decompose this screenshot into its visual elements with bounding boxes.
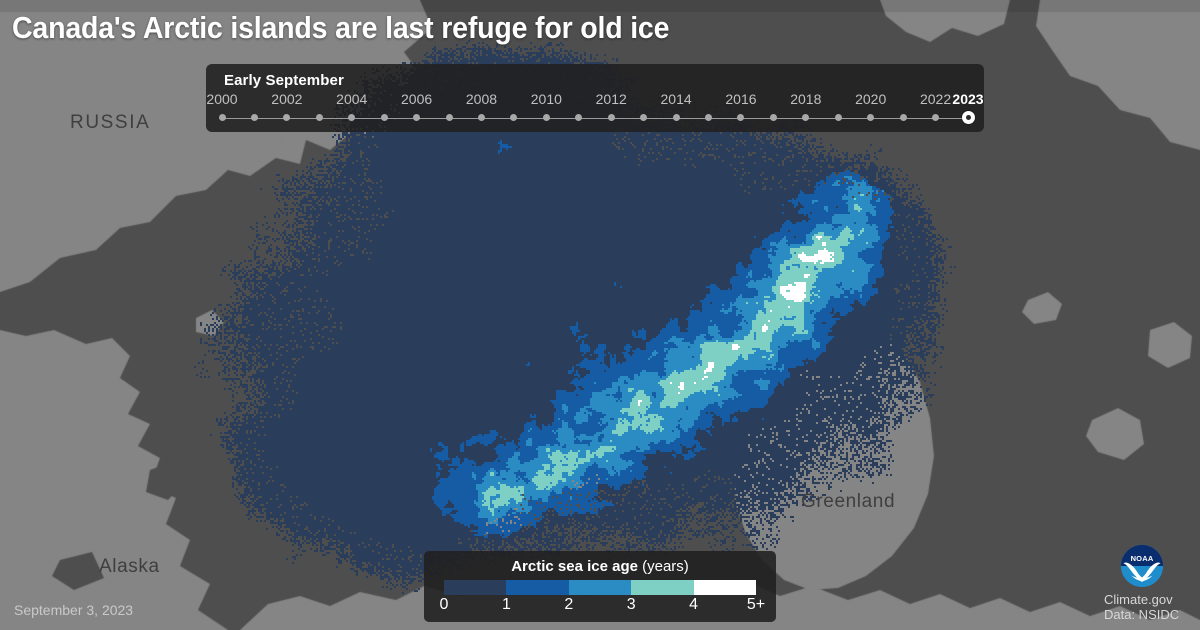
page-title: Canada's Arctic islands are last refuge … — [12, 10, 669, 46]
timeline-tick-2003[interactable] — [316, 114, 323, 121]
timeline-year-2006[interactable]: 2006 — [401, 91, 432, 107]
timeline-tick-2016[interactable] — [737, 114, 744, 121]
map-label-russia: RUSSIA — [70, 112, 150, 134]
timeline-tick-2017[interactable] — [770, 114, 777, 121]
brand-line-climate-gov: Climate.gov — [1104, 592, 1190, 607]
timeline-year-2012[interactable]: 2012 — [596, 91, 627, 107]
timeline-tick-2022[interactable] — [932, 114, 939, 121]
timeline-year-2020[interactable]: 2020 — [855, 91, 886, 107]
timeline-year-2000[interactable]: 2000 — [206, 91, 237, 107]
legend-tick-2: 2 — [564, 596, 573, 614]
map-label-greenland: Greenland — [801, 491, 895, 513]
timeline-tick-2012[interactable] — [608, 114, 615, 121]
timeline-year-2016[interactable]: 2016 — [725, 91, 756, 107]
legend-title: Arctic sea ice age (years) — [444, 558, 756, 575]
timeline-tick-2014[interactable] — [673, 114, 680, 121]
legend-title-text: Arctic sea ice age — [511, 558, 638, 575]
timeline-tick-2006[interactable] — [413, 114, 420, 121]
timeline-year-labels: 2000200220042006200820102012201420162018… — [222, 91, 968, 109]
timeline-tick-2004[interactable] — [348, 114, 355, 121]
timeline-tick-2020[interactable] — [867, 114, 874, 121]
timeline-year-2014[interactable]: 2014 — [661, 91, 692, 107]
timeline-tick-2013[interactable] — [640, 114, 647, 121]
timeline-tick-2002[interactable] — [283, 114, 290, 121]
legend-color-bar — [444, 580, 756, 595]
legend-tick-1: 1 — [502, 596, 511, 614]
brand-line-data-source: Data: NSIDC — [1104, 607, 1190, 622]
legend-title-unit: (years) — [642, 558, 689, 575]
timeline-year-2002[interactable]: 2002 — [271, 91, 302, 107]
timeline-tick-2005[interactable] — [381, 114, 388, 121]
timeline-tick-2008[interactable] — [478, 114, 485, 121]
brand-text-block: Climate.gov Data: NSIDC — [1094, 592, 1190, 622]
timeline-tick-2000[interactable] — [219, 114, 226, 121]
timeline-tick-2015[interactable] — [705, 114, 712, 121]
timeline-track-line — [222, 118, 968, 119]
legend-swatch-1 — [506, 580, 568, 595]
timeline-tick-2011[interactable] — [575, 114, 582, 121]
timeline-tick-2021[interactable] — [900, 114, 907, 121]
branding-block: NOAA Climate.gov Data: NSIDC — [1094, 544, 1190, 622]
noaa-logo-icon: NOAA — [1120, 544, 1164, 588]
timeline-tick-2019[interactable] — [835, 114, 842, 121]
timeline-year-2023[interactable]: 2023 — [952, 91, 983, 107]
legend-swatch-0 — [444, 580, 506, 595]
timeline-year-2018[interactable]: 2018 — [790, 91, 821, 107]
timeline-slider-track[interactable] — [222, 111, 968, 127]
legend-tick-4: 4 — [689, 596, 698, 614]
date-stamp: September 3, 2023 — [14, 602, 133, 618]
timeline-tick-2018[interactable] — [802, 114, 809, 121]
timeline-year-2010[interactable]: 2010 — [531, 91, 562, 107]
timeline-tick-2007[interactable] — [446, 114, 453, 121]
timeline-tick-2009[interactable] — [510, 114, 517, 121]
legend-swatch-4 — [694, 580, 756, 595]
timeline-tick-2010[interactable] — [543, 114, 550, 121]
noaa-logo-text: NOAA — [1131, 554, 1154, 563]
legend-panel: Arctic sea ice age (years) 012345+ — [424, 551, 776, 622]
legend-tick-labels: 012345+ — [444, 596, 756, 616]
timeline-tick-2001[interactable] — [251, 114, 258, 121]
timeline-year-2004[interactable]: 2004 — [336, 91, 367, 107]
timeline-year-2008[interactable]: 2008 — [466, 91, 497, 107]
legend-tick-3: 3 — [627, 596, 636, 614]
timeline-caption: Early September — [224, 72, 968, 89]
legend-tick-5plus: 5+ — [747, 596, 765, 614]
timeline-panel[interactable]: Early September 200020022004200620082010… — [206, 64, 984, 132]
map-label-alaska: Alaska — [99, 556, 160, 578]
legend-swatch-3 — [631, 580, 693, 595]
timeline-slider-handle[interactable] — [962, 111, 975, 124]
sea-ice-age-map-graphic: RUSSIAAlaskaGreenland Canada's Arctic is… — [0, 0, 1200, 630]
legend-tick-0: 0 — [440, 596, 449, 614]
timeline-year-2022[interactable]: 2022 — [920, 91, 951, 107]
legend-swatch-2 — [569, 580, 631, 595]
